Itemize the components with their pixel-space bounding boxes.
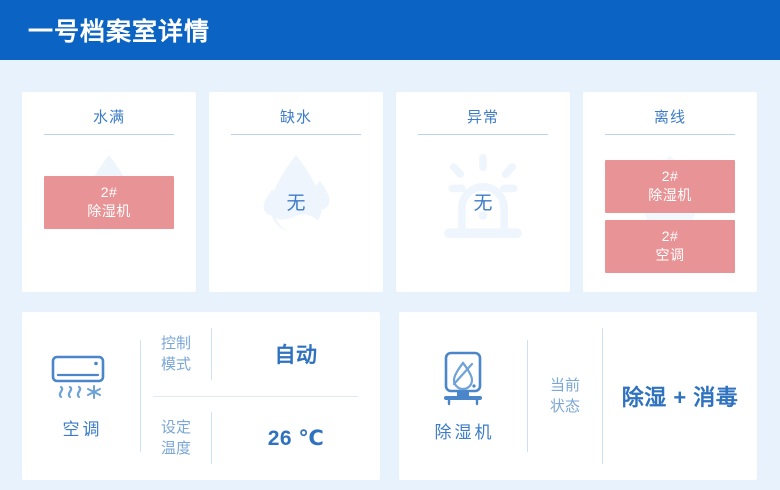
dehumidifier-icon <box>435 350 491 408</box>
device-identity: 除湿机 <box>399 350 527 443</box>
device-name: 除湿机 <box>432 418 495 443</box>
property-value: 26 ℃ <box>212 426 380 451</box>
status-card-abnormal[interactable]: 异常 无 <box>396 92 570 292</box>
device-identity: 空调 <box>22 353 140 440</box>
device-tag-id: 2# <box>605 167 735 186</box>
property-label-line2: 温度 <box>141 438 211 459</box>
title-divider <box>418 134 548 135</box>
device-tag-name: 除湿机 <box>44 202 174 221</box>
device-tag-id: 2# <box>44 183 174 202</box>
status-card-title: 水满 <box>22 106 196 127</box>
status-card-title: 离线 <box>583 106 757 127</box>
device-property-row: 控制 模式 自动 <box>141 312 380 396</box>
app-root: 一号档案室详情 水满 2# 除湿机 缺水 <box>0 0 780 490</box>
property-label: 当前 状态 <box>528 375 602 417</box>
property-value: 除湿 + 消毒 <box>603 380 757 412</box>
device-property-row: 当前 状态 除湿 + 消毒 <box>528 312 757 480</box>
device-tag-name: 除湿机 <box>605 186 735 205</box>
device-property-row: 设定 温度 26 ℃ <box>141 396 380 480</box>
property-label-line1: 控制 <box>141 333 211 354</box>
title-divider <box>231 134 361 135</box>
status-card-title: 缺水 <box>209 106 383 127</box>
status-card-water-shortage[interactable]: 缺水 无 <box>209 92 383 292</box>
page-title: 一号档案室详情 <box>28 0 210 60</box>
device-tag[interactable]: 2# 空调 <box>605 220 735 273</box>
property-label-line1: 设定 <box>141 417 211 438</box>
status-value: 无 <box>396 188 570 215</box>
title-divider <box>44 134 174 135</box>
device-tag-list: 2# 除湿机 <box>44 150 174 282</box>
property-value: 自动 <box>212 339 380 369</box>
device-card-air-conditioner[interactable]: 空调 控制 模式 自动 设定 温度 <box>22 312 380 480</box>
title-divider <box>605 134 735 135</box>
device-tag-id: 2# <box>605 227 735 246</box>
device-property-list: 当前 状态 除湿 + 消毒 <box>528 312 757 480</box>
device-card-dehumidifier[interactable]: 除湿机 当前 状态 除湿 + 消毒 <box>399 312 757 480</box>
property-label-line2: 状态 <box>528 396 602 417</box>
property-label-line2: 模式 <box>141 354 211 375</box>
status-card-title: 异常 <box>396 106 570 127</box>
device-tag-list: 2# 除湿机 2# 空调 <box>605 150 735 282</box>
property-label-line1: 当前 <box>528 375 602 396</box>
status-card-water-full[interactable]: 水满 2# 除湿机 <box>22 92 196 292</box>
air-conditioner-icon <box>49 353 113 405</box>
device-tag-name: 空调 <box>605 246 735 265</box>
device-property-list: 控制 模式 自动 设定 温度 26 ℃ <box>141 312 380 480</box>
device-name: 空调 <box>60 415 103 440</box>
device-tag[interactable]: 2# 除湿机 <box>44 176 174 229</box>
device-tag[interactable]: 2# 除湿机 <box>605 160 735 213</box>
property-label: 控制 模式 <box>141 333 211 375</box>
property-label: 设定 温度 <box>141 417 211 459</box>
status-value: 无 <box>209 188 383 215</box>
page-header: 一号档案室详情 <box>0 0 780 60</box>
status-card-offline[interactable]: 离线 2# 除湿机 2# 空调 <box>583 92 757 292</box>
